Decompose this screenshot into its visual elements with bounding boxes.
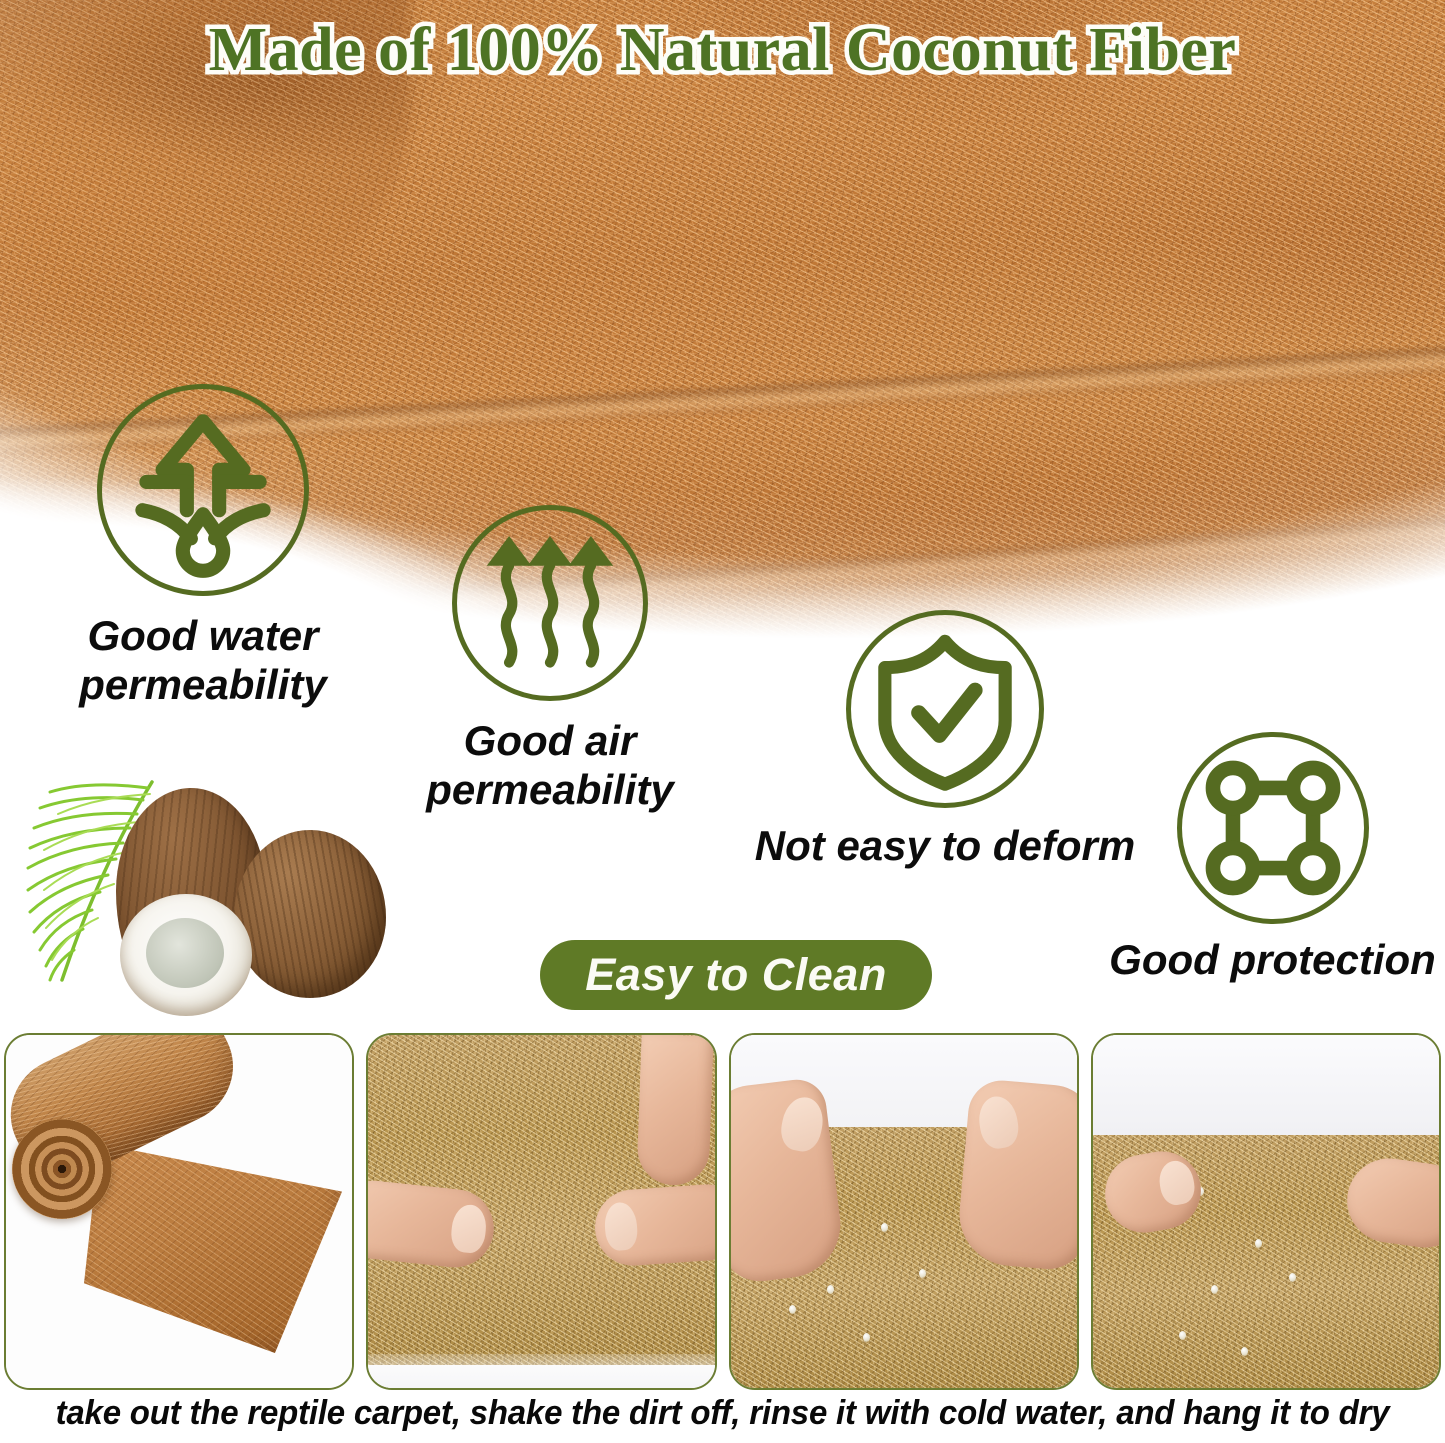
feature-not-easy-to-deform: Not easy to deform [745, 610, 1145, 871]
coconut-whole [234, 830, 386, 998]
photo-panel-folding-mat [366, 1033, 716, 1390]
roll-spiral-end [12, 1119, 112, 1219]
unrolled-mat [84, 1135, 342, 1353]
shield-check-icon [846, 610, 1044, 808]
finger [636, 1034, 713, 1186]
photo-panel-lifting-mat [1091, 1033, 1441, 1390]
feature-label: Good air permeability [400, 717, 700, 814]
feature-good-air-permeability: Good air permeability [400, 505, 700, 814]
air-permeability-icon [452, 505, 648, 701]
finger [955, 1078, 1079, 1272]
easy-to-clean-badge: Easy to Clean [540, 940, 932, 1010]
photo-panel-rolled-carpet [4, 1033, 354, 1390]
page-title: Made of 100% Natural Coconut Fiber [0, 14, 1445, 86]
feature-label: Good protection [1105, 936, 1440, 985]
photo-panel-holding-edge [729, 1033, 1079, 1390]
water-permeability-icon [97, 384, 309, 596]
feature-good-protection: Good protection [1105, 732, 1440, 985]
feature-good-water-permeability: Good water permeability [48, 384, 358, 709]
product-infographic: Made of 100% Natural Coconut Fiber Good … [0, 0, 1445, 1443]
white-surface [368, 1354, 714, 1388]
feature-label: Good water permeability [48, 612, 358, 709]
photo-strip [0, 1033, 1445, 1390]
coconut-flesh [120, 894, 252, 1016]
square-nodes-icon [1177, 732, 1369, 924]
badge-label: Easy to Clean [585, 949, 887, 1001]
coconut-with-palm-frond-illustration [8, 768, 408, 1030]
feature-label: Not easy to deform [745, 822, 1145, 871]
cleaning-instructions-caption: take out the reptile carpet, shake the d… [22, 1394, 1424, 1433]
